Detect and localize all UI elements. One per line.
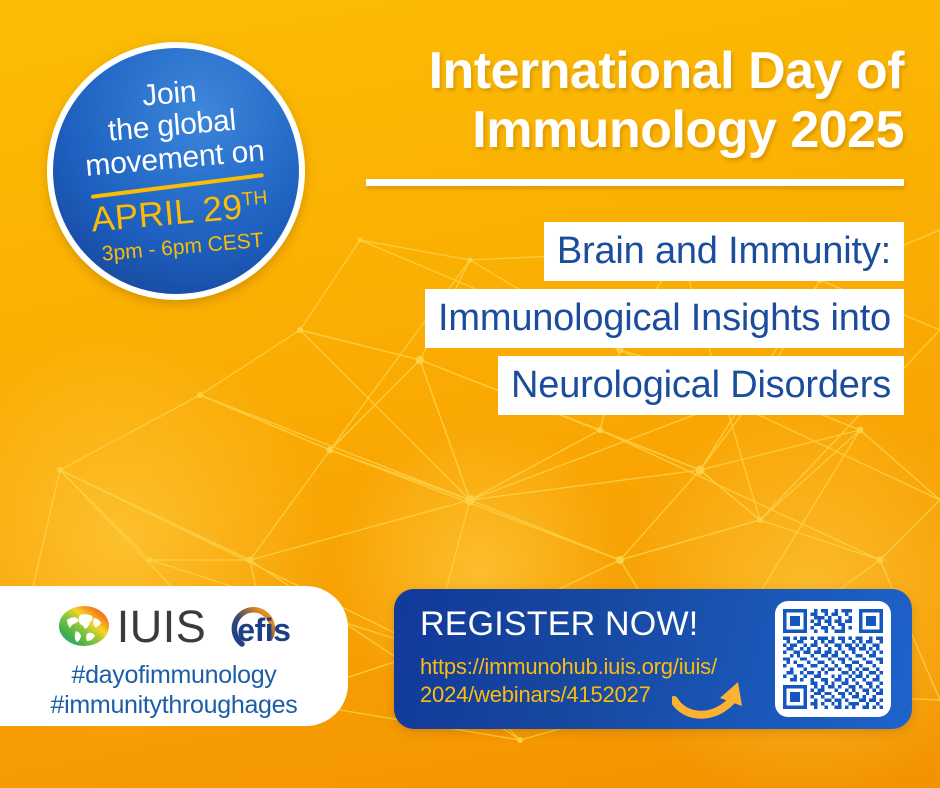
hashtag-immunitythroughages: #immunitythroughages xyxy=(0,691,348,721)
subtitle-line-3: Neurological Disorders xyxy=(498,356,904,415)
headline-block: International Day of Immunology 2025 xyxy=(344,42,904,186)
headline-line-2: Immunology 2025 xyxy=(344,101,904,160)
efis-wordmark: efis xyxy=(237,614,290,646)
date-badge: Join the global movement on APRIL 29TH 3… xyxy=(36,31,316,311)
register-title: REGISTER NOW! xyxy=(420,607,760,641)
register-panel[interactable]: REGISTER NOW! https://immunohub.iuis.org… xyxy=(394,589,912,729)
badge-join-text: Join the global movement on xyxy=(68,70,275,184)
badge-date-ordinal: TH xyxy=(241,188,268,211)
hashtags: #dayofimmunology #immunitythroughages xyxy=(0,661,348,720)
logo-row: IUIS efis xyxy=(0,600,348,652)
efis-logo: efis xyxy=(218,600,296,652)
subtitle-block: Brain and Immunity: Immunological Insigh… xyxy=(425,222,904,423)
qr-code[interactable] xyxy=(775,601,891,717)
headline-line-1: International Day of xyxy=(344,42,904,101)
globe-icon xyxy=(58,604,110,648)
subtitle-line-2: Immunological Insights into xyxy=(425,289,904,348)
curved-arrow-icon xyxy=(672,676,748,722)
qr-code-icon xyxy=(783,609,883,709)
iuis-wordmark: IUIS xyxy=(117,604,207,649)
poster-canvas: Join the global movement on APRIL 29TH 3… xyxy=(0,0,940,788)
subtitle-line-1: Brain and Immunity: xyxy=(544,222,904,281)
headline-divider xyxy=(366,179,904,186)
logo-card: IUIS efis xyxy=(0,586,348,726)
iuis-logo: IUIS xyxy=(58,604,207,649)
hashtag-dayofimmunology: #dayofimmunology xyxy=(0,661,348,691)
